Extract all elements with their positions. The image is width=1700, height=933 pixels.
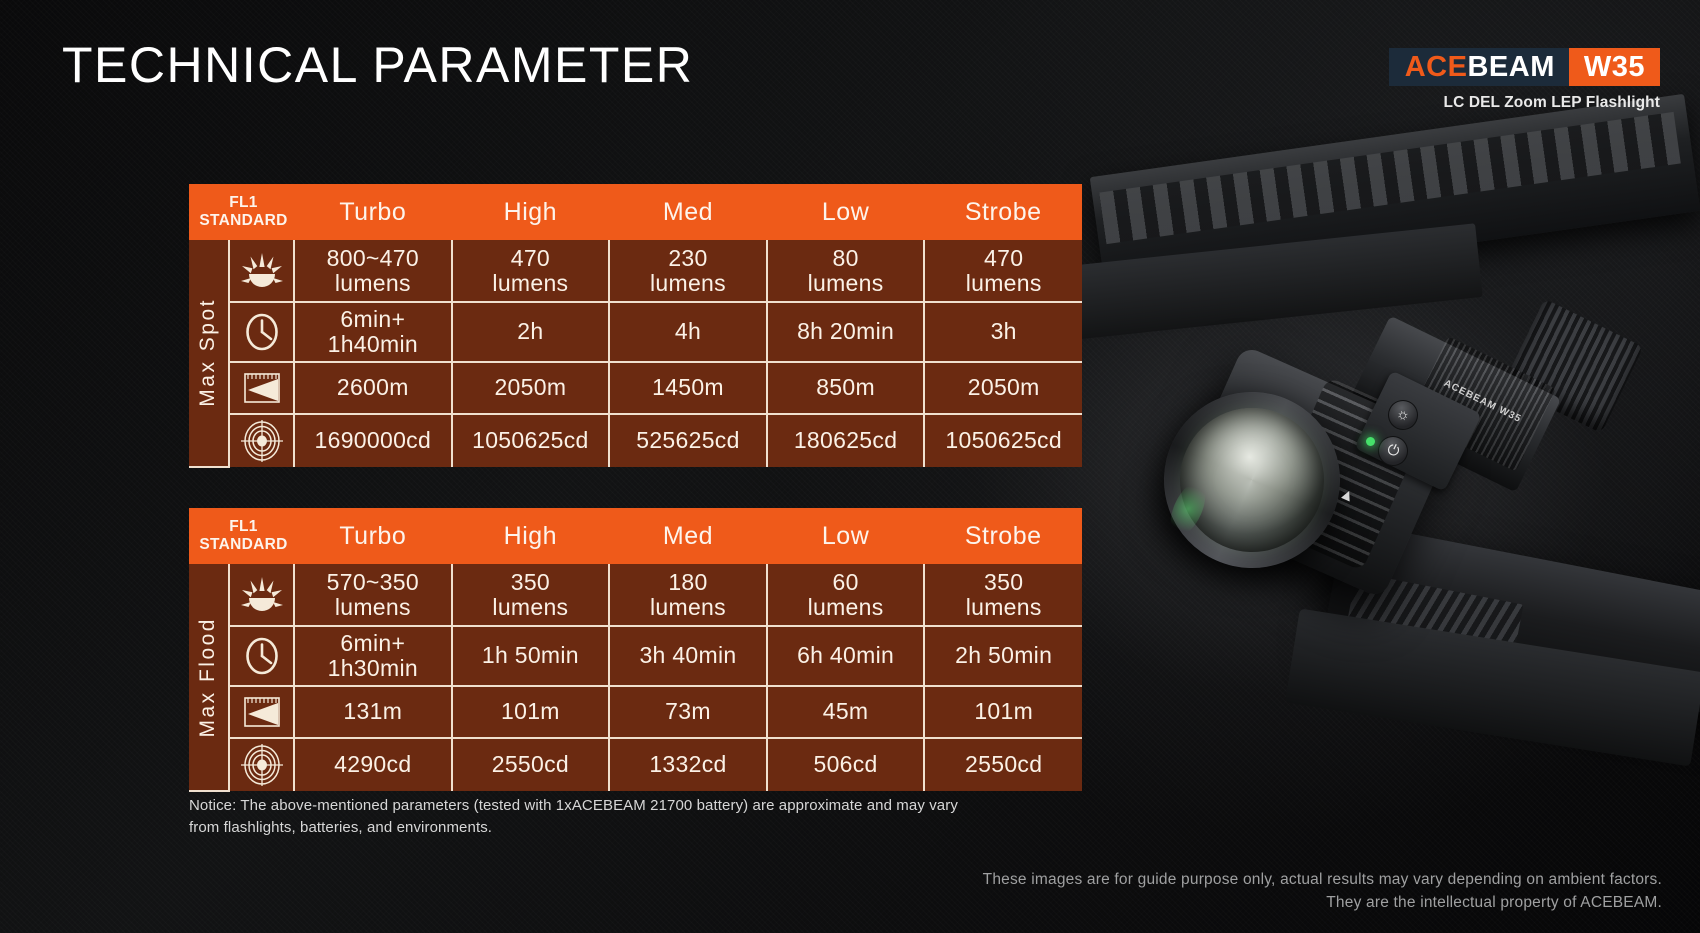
- cell-intensity-high: 1050625cd: [452, 414, 610, 467]
- cell-runtime-strobe: 3h: [924, 302, 1082, 362]
- cell-lumens-med: 230lumens: [609, 240, 767, 302]
- brand-logo-beam: BEAM: [1467, 53, 1554, 82]
- cell-runtime-low: 8h 20min: [767, 302, 925, 362]
- cell-intensity-low-flood: 506cd: [767, 738, 925, 791]
- clock-icon-svg: [242, 636, 282, 676]
- cell-distance-med-flood: 73m: [609, 686, 767, 738]
- table-row-intensity-flood: 4290cd 2550cd 1332cd 506cd 2550cd: [189, 738, 1082, 791]
- cell-intensity-turbo: 1690000cd: [294, 414, 452, 467]
- cell-intensity-high-flood: 2550cd: [452, 738, 610, 791]
- cell-distance-strobe: 2050m: [924, 362, 1082, 414]
- cell-lumens-strobe-flood: 350lumens: [924, 564, 1082, 626]
- cell-runtime-med: 4h: [609, 302, 767, 362]
- notice-line-1: Notice: The above-mentioned parameters (…: [189, 795, 1119, 817]
- cell-runtime-turbo: 6min+1h40min: [294, 302, 452, 362]
- product-subtitle: LC DEL Zoom LEP Flashlight: [1389, 94, 1660, 112]
- disclaimer-line-2: They are the intellectual property of AC…: [842, 891, 1662, 914]
- cell-lumens-med-flood: 180lumens: [609, 564, 767, 626]
- sunburst-icon-svg: [239, 253, 285, 289]
- disclaimer-text: These images are for guide purpose only,…: [842, 868, 1662, 915]
- model-badge: W35: [1569, 48, 1660, 86]
- header-strobe: Strobe: [924, 184, 1082, 240]
- cell-runtime-turbo-flood: 6min+1h30min: [294, 626, 452, 686]
- header-high: High: [452, 184, 610, 240]
- cell-lumens-low: 80lumens: [767, 240, 925, 302]
- cell-lumens-high-flood: 350lumens: [452, 564, 610, 626]
- table-row-distance-flood: 131m 101m 73m 45m 101m: [189, 686, 1082, 738]
- cell-runtime-high-flood: 1h 50min: [452, 626, 610, 686]
- cell-runtime-low-flood: 6h 40min: [767, 626, 925, 686]
- table-header-row-flood: FL1 STANDARD Turbo High Med Low Strobe: [189, 508, 1082, 564]
- table-row-distance-spot: 2600m 2050m 1450m 850m 2050m: [189, 362, 1082, 414]
- notice-line-2: from flashlights, batteries, and environ…: [189, 817, 1119, 839]
- row-label-max-spot: Max Spot: [189, 240, 229, 467]
- cell-intensity-med: 525625cd: [609, 414, 767, 467]
- header-high-flood: High: [452, 508, 610, 564]
- cell-intensity-strobe-flood: 2550cd: [924, 738, 1082, 791]
- brand-block: ACEBEAM W35 LC DEL Zoom LEP Flashlight: [1389, 48, 1660, 112]
- cell-intensity-med-flood: 1332cd: [609, 738, 767, 791]
- cell-distance-turbo-flood: 131m: [294, 686, 452, 738]
- cell-distance-high-flood: 101m: [452, 686, 610, 738]
- table-row-intensity-spot: 1690000cd 1050625cd 525625cd 180625cd 10…: [189, 414, 1082, 467]
- header-low: Low: [767, 184, 925, 240]
- cell-lumens-high: 470lumens: [452, 240, 610, 302]
- cell-distance-turbo: 2600m: [294, 362, 452, 414]
- target-icon-svg: [240, 419, 284, 463]
- sunburst-icon: [229, 240, 294, 302]
- cell-distance-med: 1450m: [609, 362, 767, 414]
- cell-lumens-turbo: 800~470lumens: [294, 240, 452, 302]
- cell-distance-low-flood: 45m: [767, 686, 925, 738]
- cell-lumens-turbo-flood: 570~350lumens: [294, 564, 452, 626]
- spec-table-max-spot: FL1 STANDARD Turbo High Med Low Strobe M…: [189, 184, 1082, 468]
- cell-distance-low: 850m: [767, 362, 925, 414]
- row-label-max-flood: Max Flood: [189, 564, 229, 791]
- header-strobe-flood: Strobe: [924, 508, 1082, 564]
- header-med: Med: [609, 184, 767, 240]
- cell-intensity-low: 180625cd: [767, 414, 925, 467]
- beam-distance-icon-svg: [240, 694, 284, 730]
- brand-logo: ACEBEAM: [1389, 48, 1569, 86]
- beam-distance-icon: [229, 362, 294, 414]
- cell-intensity-strobe: 1050625cd: [924, 414, 1082, 467]
- table-row-lumens-flood: Max Flood 5: [189, 564, 1082, 626]
- cell-runtime-high: 2h: [452, 302, 610, 362]
- spec-table-max-flood: FL1 STANDARD Turbo High Med Low Strobe M…: [189, 508, 1082, 792]
- notice-text: Notice: The above-mentioned parameters (…: [189, 795, 1119, 839]
- cell-lumens-low-flood: 60lumens: [767, 564, 925, 626]
- cell-runtime-med-flood: 3h 40min: [609, 626, 767, 686]
- clock-icon: [229, 302, 294, 362]
- table-row-runtime-flood: 6min+1h30min 1h 50min 3h 40min 6h 40min …: [189, 626, 1082, 686]
- brand-bar: ACEBEAM W35: [1389, 48, 1660, 86]
- beam-distance-icon-svg: [240, 370, 284, 406]
- sunburst-icon: [229, 564, 294, 626]
- cell-lumens-strobe: 470lumens: [924, 240, 1082, 302]
- brand-logo-ace: ACE: [1405, 53, 1468, 82]
- clock-icon: [229, 626, 294, 686]
- cell-distance-high: 2050m: [452, 362, 610, 414]
- table-header-row-spot: FL1 STANDARD Turbo High Med Low Strobe: [189, 184, 1082, 240]
- beam-distance-icon: [229, 686, 294, 738]
- technical-parameter-page: ▲ ☼ ⏻ ACEBEAM W35 TECHNICAL PARAMETER AC…: [0, 0, 1700, 933]
- disclaimer-line-1: These images are for guide purpose only,…: [842, 868, 1662, 891]
- clock-icon-svg: [242, 312, 282, 352]
- cell-distance-strobe-flood: 101m: [924, 686, 1082, 738]
- header-fl1-standard: FL1 STANDARD: [189, 184, 294, 240]
- header-turbo: Turbo: [294, 184, 452, 240]
- content-layer: TECHNICAL PARAMETER ACEBEAM W35 LC DEL Z…: [0, 0, 1700, 933]
- page-title: TECHNICAL PARAMETER: [62, 36, 693, 94]
- header-low-flood: Low: [767, 508, 925, 564]
- sunburst-icon-svg: [239, 577, 285, 613]
- header-fl1-standard-flood: FL1 STANDARD: [189, 508, 294, 564]
- cell-intensity-turbo-flood: 4290cd: [294, 738, 452, 791]
- table-row-lumens-spot: Max Spot 80: [189, 240, 1082, 302]
- target-icon: [229, 414, 294, 467]
- target-icon-svg: [240, 743, 284, 787]
- target-icon: [229, 738, 294, 791]
- header-turbo-flood: Turbo: [294, 508, 452, 564]
- cell-runtime-strobe-flood: 2h 50min: [924, 626, 1082, 686]
- header-med-flood: Med: [609, 508, 767, 564]
- table-row-runtime-spot: 6min+1h40min 2h 4h 8h 20min 3h: [189, 302, 1082, 362]
